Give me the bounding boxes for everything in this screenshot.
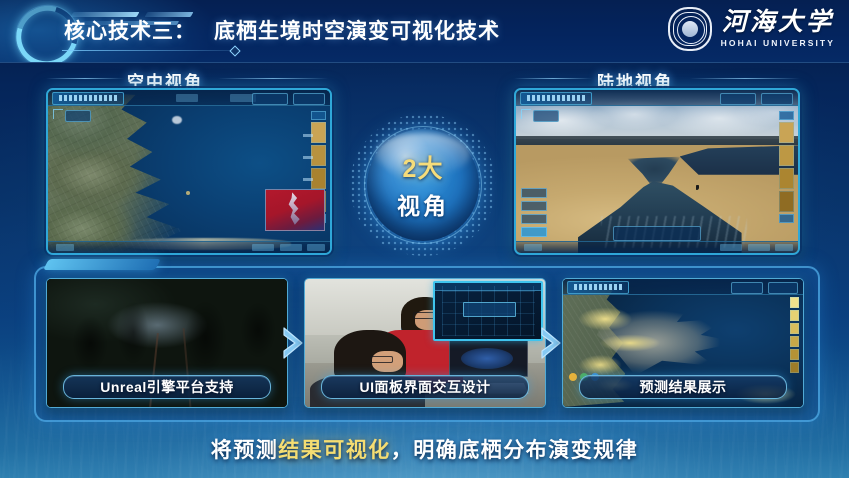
logo-name-cn: 河海大学 — [722, 10, 834, 35]
label-rule — [690, 78, 800, 79]
toolbar-item[interactable] — [176, 94, 198, 102]
view-control-button[interactable] — [521, 227, 547, 237]
app-titlebar — [48, 90, 330, 106]
app-titlebar — [516, 90, 798, 106]
app-titlebar — [563, 279, 803, 295]
badge-line1: 2大 — [403, 149, 444, 185]
ui-panel-inset-screenshot — [433, 281, 543, 341]
badge-line2: 视角 — [397, 187, 449, 221]
caption-part1: 将预测 — [211, 439, 279, 462]
toolbar-button[interactable] — [731, 282, 763, 294]
step-2-label-pill: UI面板界面交互设计 — [321, 375, 529, 399]
step-2-label: UI面板界面交互设计 — [360, 377, 491, 397]
legend-tick — [303, 156, 313, 159]
slide-caption: 将预测结果可视化，明确底栖分布演变规律 — [0, 434, 849, 464]
toolbar-button[interactable] — [720, 93, 756, 105]
step-3-label-pill: 预测结果展示 — [579, 375, 787, 399]
view-control-button[interactable] — [521, 188, 547, 198]
title-main: 底栖生境时空演变可视化技术 — [214, 15, 500, 45]
view-control-button[interactable] — [521, 214, 547, 224]
label-rule — [218, 78, 328, 79]
header-diamond-icon — [229, 45, 240, 56]
logo-name-en: HOHAI UNIVERSITY — [721, 39, 835, 48]
toolbar-button[interactable] — [252, 93, 288, 105]
title-prefix: 核心技术三： — [64, 15, 196, 45]
workflow-step-1[interactable]: Unreal引擎平台支持 — [46, 278, 288, 408]
label-rule — [514, 78, 592, 79]
toolbar-button[interactable] — [768, 282, 798, 294]
view-control-button[interactable] — [521, 201, 547, 211]
two-views-badge: 2大 视角 — [358, 122, 488, 248]
caption-highlight: 结果可视化 — [278, 439, 391, 462]
step-1-label: Unreal引擎平台支持 — [100, 377, 234, 397]
app-title-chip — [52, 92, 124, 105]
legend-tick — [303, 134, 313, 137]
frame-accent-bar — [43, 259, 161, 270]
corner-bracket-icon — [521, 109, 531, 119]
step-1-label-pill: Unreal引擎平台支持 — [63, 375, 271, 399]
toolbar-button[interactable] — [761, 93, 793, 105]
toolbar-button[interactable] — [293, 93, 325, 105]
view-control-stack[interactable] — [521, 188, 547, 237]
header-underline — [62, 50, 232, 51]
aerial-view-screenshot[interactable] — [46, 88, 332, 255]
legend-tick — [303, 178, 313, 181]
corner-bracket-icon — [53, 109, 63, 119]
app-statusbar — [516, 241, 798, 253]
minimap[interactable] — [265, 189, 325, 231]
depth-legend — [779, 111, 794, 226]
map-tool-button[interactable] — [65, 110, 91, 122]
app-statusbar — [48, 241, 330, 253]
app-title-chip — [567, 281, 629, 294]
caption-part2: ，明确底栖分布演变规律 — [391, 439, 639, 462]
prediction-legend — [790, 297, 799, 373]
label-rule — [46, 78, 124, 79]
slide-canvas: 核心技术三： 底栖生境时空演变可视化技术 河海大学 HOHAI UNIVERSI… — [0, 0, 849, 478]
view-tool-button[interactable] — [533, 110, 559, 122]
slide-header: 核心技术三： 底栖生境时空演变可视化技术 河海大学 HOHAI UNIVERSI… — [0, 0, 849, 63]
land-view-screenshot[interactable] — [514, 88, 800, 255]
step-3-label: 预测结果展示 — [640, 377, 727, 397]
workflow-step-3[interactable]: 预测结果展示 — [562, 278, 804, 408]
workflow-step-2[interactable]: UI面板界面交互设计 — [304, 278, 546, 408]
timeline-control[interactable] — [613, 226, 701, 241]
eyeglasses-icon — [370, 356, 394, 363]
app-title-chip — [520, 92, 592, 105]
hohai-emblem-icon — [668, 7, 712, 51]
university-logo: 河海大学 HOHAI UNIVERSITY — [668, 7, 835, 51]
page-title: 核心技术三： 底栖生境时空演变可视化技术 — [64, 15, 500, 45]
